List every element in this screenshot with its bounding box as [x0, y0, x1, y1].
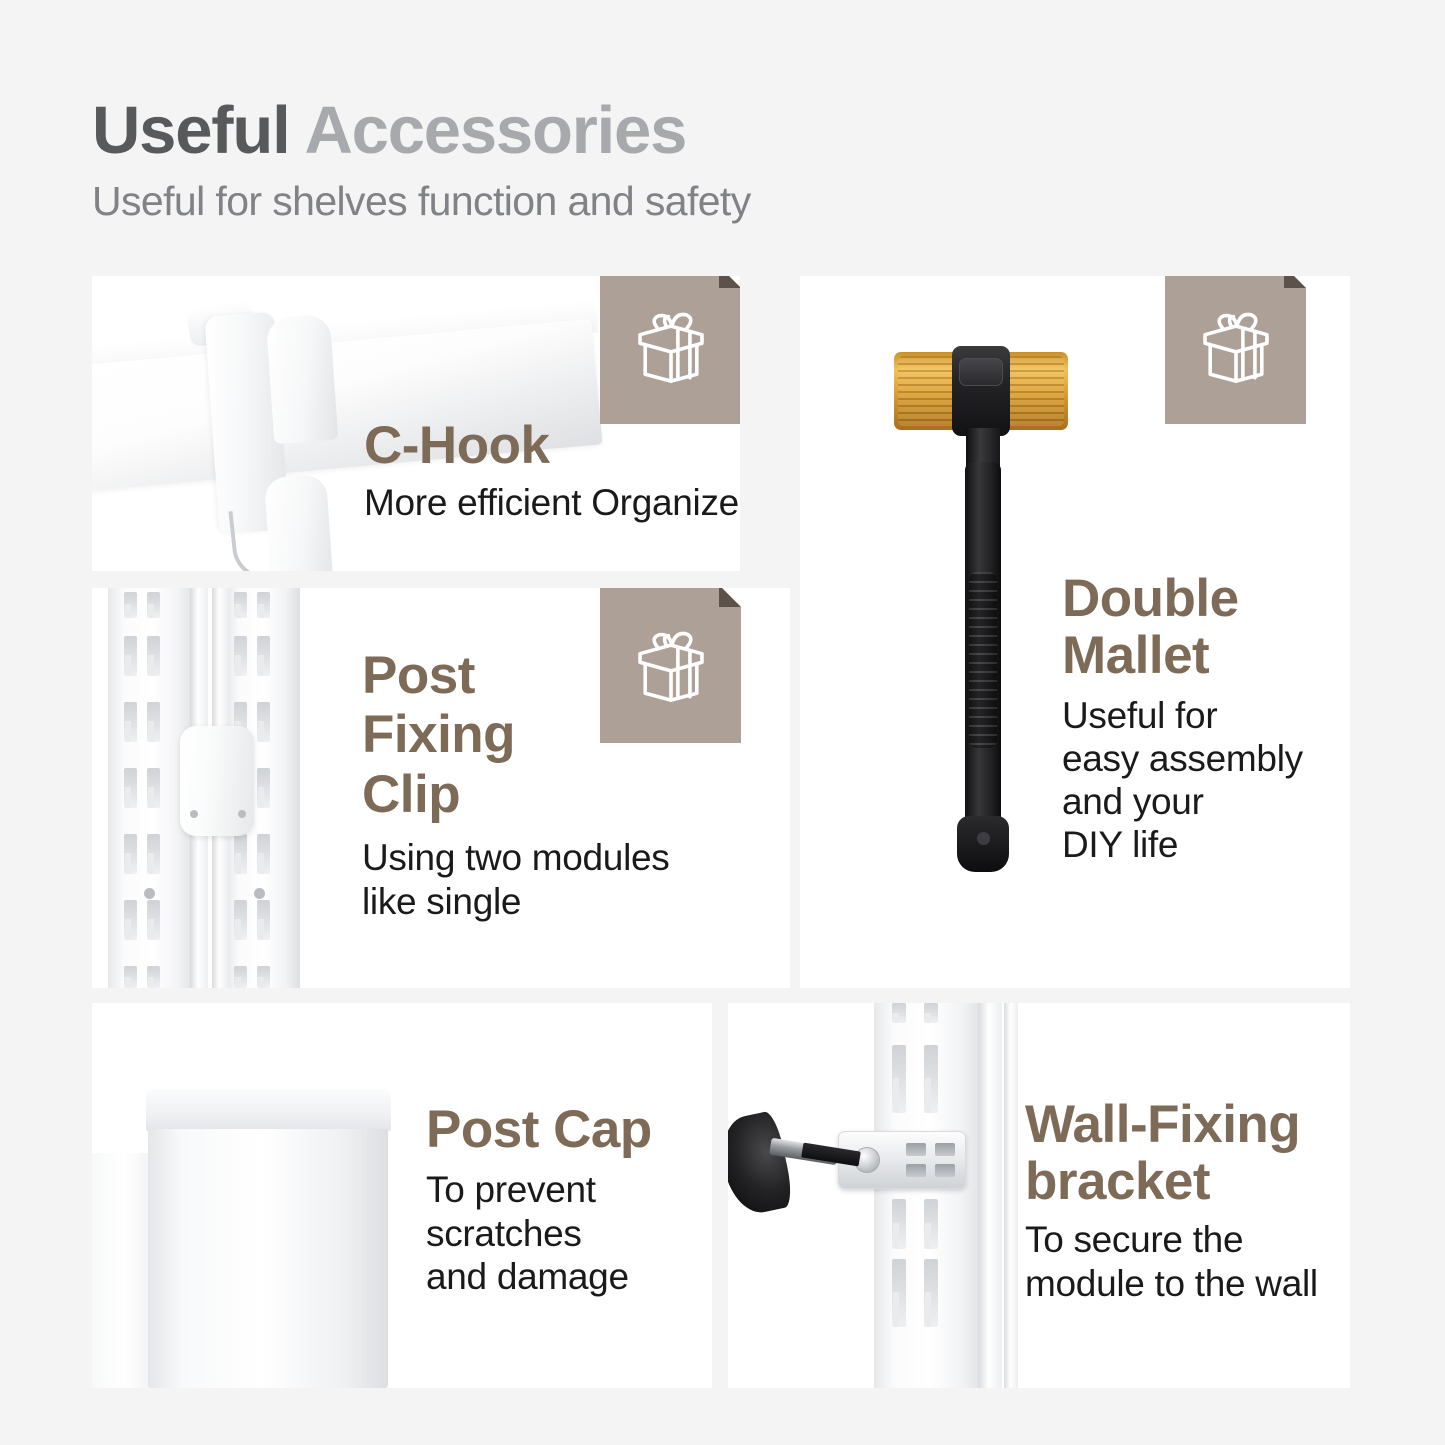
post-cap-top — [146, 1089, 391, 1131]
double-mallet-body-text: Useful for easy assembly and your DIY li… — [1062, 695, 1303, 867]
badge-corner-fold — [1284, 276, 1306, 288]
page-title-light: Accessories — [305, 93, 687, 168]
card-c-hook: C-Hook More efficient Organize — [92, 276, 740, 571]
clip-rivet-left — [190, 810, 198, 818]
double-mallet-heading: Double Mallet — [1062, 570, 1303, 684]
gift-box-icon — [628, 302, 714, 388]
wall-fixing-bracket-body-text: To secure the module to the wall — [1025, 1218, 1318, 1305]
post-slot — [147, 702, 160, 742]
bracket-hole — [906, 1143, 926, 1156]
post-slot — [892, 1045, 906, 1113]
post-slot — [892, 1199, 906, 1249]
post-slot — [924, 1259, 938, 1327]
double-mallet-body-line-4: DIY life — [1062, 824, 1303, 867]
double-mallet-heading-line-2: Mallet — [1062, 627, 1303, 684]
post-fixing-clip-photo — [92, 588, 300, 988]
card-wall-fixing-bracket: Wall-Fixing bracket To secure the module… — [728, 1003, 1350, 1388]
post-cap-body-line-3: and damage — [426, 1255, 652, 1298]
post-slot — [124, 834, 137, 874]
post-slot — [234, 592, 247, 618]
gift-badge-c-hook — [600, 276, 740, 424]
post-slot — [124, 636, 137, 676]
mallet-rings-right — [1004, 356, 1064, 426]
post-slot — [124, 966, 137, 988]
c-hook-upper-knob — [266, 314, 339, 444]
double-mallet-body-line-3: and your — [1062, 781, 1303, 824]
card-post-fixing-clip: Post Fixing Clip Using two modules like … — [92, 588, 790, 988]
double-mallet-body-line-2: easy assembly — [1062, 738, 1303, 781]
c-hook-body-text: More efficient Organize — [364, 481, 739, 525]
post-slot — [124, 768, 137, 808]
post-cap-body-line-2: scratches — [426, 1212, 652, 1255]
post-slot — [924, 1045, 938, 1113]
mallet-grip-texture — [969, 572, 997, 748]
post-slot — [257, 834, 270, 874]
double-mallet-text-block: Double Mallet Useful for easy assembly a… — [1062, 570, 1303, 867]
badge-corner-fold — [719, 588, 741, 607]
double-mallet-body-line-1: Useful for — [1062, 695, 1303, 738]
post-slot — [124, 592, 137, 618]
post-slot — [257, 636, 270, 676]
post-cap-heading: Post Cap — [426, 1101, 652, 1158]
gift-badge-double-mallet — [1165, 276, 1306, 424]
mallet-butt-hole — [977, 832, 990, 845]
bracket-hole — [906, 1164, 926, 1177]
post-edge-rail — [1004, 1003, 1018, 1388]
post-rivet — [144, 888, 155, 899]
post-slot — [147, 592, 160, 618]
wall-fixing-bracket-text-block: Wall-Fixing bracket To secure the module… — [1025, 1096, 1318, 1305]
post-slot — [234, 636, 247, 676]
post-slot — [124, 900, 137, 940]
page-title: Useful Accessories — [92, 96, 751, 166]
post-fixing-clip-body-text: Using two modules like single — [362, 836, 670, 923]
post-cap-body-line-1: To prevent — [426, 1168, 652, 1211]
card-post-cap: Post Cap To prevent scratches and damage — [92, 1003, 712, 1388]
post-cap-text-block: Post Cap To prevent scratches and damage — [426, 1101, 652, 1298]
post-slot — [924, 1003, 938, 1023]
post-slot — [924, 1199, 938, 1249]
mallet-rings-left — [898, 356, 956, 426]
wall-fixing-bracket-heading-line-1: Wall-Fixing — [1025, 1096, 1318, 1153]
post-slot — [257, 592, 270, 618]
post-slot — [234, 900, 247, 940]
post-fixing-clip-body-line-2: like single — [362, 880, 670, 924]
gift-box-icon — [1193, 302, 1279, 388]
gift-box-icon — [628, 621, 714, 707]
post-slot — [892, 1259, 906, 1327]
post-cap-rear-post — [92, 1153, 154, 1388]
wall-fixing-bracket-photo — [728, 1003, 1058, 1388]
wall-fixing-bracket-body-line-1: To secure the — [1025, 1218, 1318, 1261]
post-slot — [234, 834, 247, 874]
wall-fixing-bracket-heading-line-2: bracket — [1025, 1153, 1318, 1210]
post-fixing-clip-collar — [180, 726, 254, 836]
post-slot — [147, 966, 160, 988]
post-slot — [257, 768, 270, 808]
card-double-mallet: Double Mallet Useful for easy assembly a… — [800, 276, 1350, 988]
post-slot — [257, 702, 270, 742]
page-subtitle: Useful for shelves function and safety — [92, 178, 751, 225]
post-slot — [257, 966, 270, 988]
clip-rivet-right — [238, 810, 246, 818]
wall-fixing-bracket-heading: Wall-Fixing bracket — [1025, 1096, 1318, 1210]
post-fixing-clip-body-line-1: Using two modules — [362, 836, 670, 880]
post-cap-front-post — [148, 1129, 388, 1388]
post-cap-photo — [92, 1003, 422, 1388]
double-mallet-heading-line-1: Double — [1062, 570, 1303, 627]
wall-fixing-bracket-body-line-2: module to the wall — [1025, 1262, 1318, 1305]
post-cap-body-text: To prevent scratches and damage — [426, 1168, 652, 1298]
post-slot — [147, 636, 160, 676]
post-side-rail — [978, 1003, 1002, 1388]
post-slot — [234, 966, 247, 988]
page-header: Useful Accessories Useful for shelves fu… — [92, 96, 751, 225]
post-slot — [147, 900, 160, 940]
post-slot — [257, 900, 270, 940]
bracket-hole — [935, 1164, 955, 1177]
post-fixing-clip-heading-line-3: Clip — [362, 765, 670, 824]
bracket-hole — [935, 1143, 955, 1156]
post-slot — [124, 702, 137, 742]
post-slot — [147, 768, 160, 808]
mallet-head-plate — [959, 358, 1003, 386]
c-hook-text-block: C-Hook More efficient Organize — [364, 418, 739, 524]
c-hook-wire — [228, 505, 297, 571]
c-hook-heading: C-Hook — [364, 418, 739, 474]
screwdriver-handle — [728, 1110, 796, 1219]
gift-badge-post-fixing-clip — [600, 588, 741, 743]
post-slot — [892, 1003, 906, 1023]
post-rivet — [254, 888, 265, 899]
badge-corner-fold — [719, 276, 740, 288]
post-slot — [147, 834, 160, 874]
page-title-strong: Useful — [92, 93, 290, 168]
